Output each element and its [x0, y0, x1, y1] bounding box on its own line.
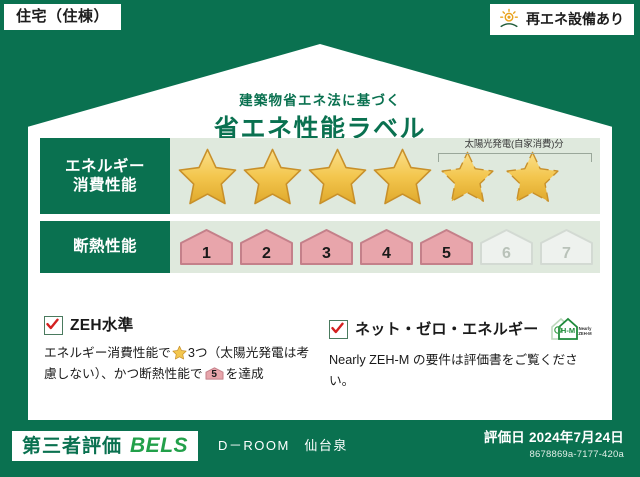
- insulation-performance-label: 断熱性能: [40, 221, 170, 273]
- zeh-standard-title: ZEH水準: [70, 318, 134, 334]
- bels-badge: 第三者評価 BELS: [12, 431, 198, 461]
- insulation-grade-badge: 7: [538, 227, 595, 267]
- label-panel: 建築物省エネ法に基づく 省エネ性能ラベル エネルギー 消費性能: [28, 44, 612, 420]
- performance-rows: エネルギー 消費性能: [40, 138, 600, 280]
- star-icon: [306, 146, 369, 206]
- bels-japanese-label: 第三者評価: [22, 437, 122, 456]
- insulation-label-line1: 断熱性能: [73, 237, 137, 256]
- insulation-grade-value: 7: [538, 246, 595, 262]
- star-icon: [241, 146, 304, 206]
- label-footer: 第三者評価 BELS D－ROOM 仙台泉 評価日 2024年7月24日 867…: [0, 421, 640, 477]
- insulation-grade-value: 1: [178, 246, 235, 262]
- inline-grade-value: 5: [205, 370, 224, 380]
- energy-label-line2: 消費性能: [73, 176, 137, 195]
- solar-bracket: [438, 153, 592, 162]
- sun-solar-icon: [498, 8, 520, 30]
- solar-generation-note: 太陽光発電(自家消費)分: [434, 140, 594, 150]
- insulation-grade-value: 6: [478, 246, 535, 262]
- star-icon: [176, 146, 239, 206]
- insulation-performance-value: 1 2 3 4: [170, 221, 600, 273]
- insulation-grade-value: 2: [238, 246, 295, 262]
- label-subtitle: 建築物省エネ法に基づく: [28, 94, 612, 108]
- renewable-badge-label: 再エネ設備あり: [526, 12, 624, 26]
- energy-performance-row: エネルギー 消費性能: [40, 138, 600, 214]
- zeh-standard-description: エネルギー消費性能で3つ（太陽光発電は考慮しない）、かつ断熱性能で5を達成: [44, 343, 315, 384]
- insulation-grade-value: 4: [358, 246, 415, 262]
- evaluation-date: 評価日 2024年7月24日: [484, 431, 624, 445]
- svg-text:H-M: H-M: [561, 326, 575, 335]
- label-title-block: 建築物省エネ法に基づく 省エネ性能ラベル: [28, 94, 612, 142]
- insulation-grade-value: 5: [418, 246, 475, 262]
- evaluation-id: 8678869a-7177-420a: [530, 450, 624, 460]
- nearly-zeh-m-logo-icon: H-M Nearly ZEH-M: [550, 316, 594, 342]
- certification-checks: ZEH水準 エネルギー消費性能で3つ（太陽光発電は考慮しない）、かつ断熱性能で5…: [44, 316, 600, 391]
- zeh-standard-block: ZEH水準 エネルギー消費性能で3つ（太陽光発電は考慮しない）、かつ断熱性能で5…: [44, 316, 315, 391]
- insulation-grade-badge: 1: [178, 227, 235, 267]
- net-zero-energy-title: ネット・ゼロ・エネルギー: [355, 322, 539, 337]
- housing-type-tag: 住宅（住棟）: [4, 4, 121, 30]
- insulation-grade-badge: 6: [478, 227, 535, 267]
- net-zero-energy-description: Nearly ZEH-M の要件は評価書をご覧ください。: [329, 350, 600, 391]
- energy-performance-value: 太陽光発電(自家消費)分: [170, 138, 600, 214]
- star-icon: [371, 146, 434, 206]
- net-zero-energy-header: ネット・ゼロ・エネルギー H-M Nearly ZEH-M: [329, 316, 600, 342]
- insulation-grade-scale: 1 2 3 4: [170, 227, 595, 267]
- insulation-grade-value: 3: [298, 246, 355, 262]
- insulation-grade-inline-badge: 5: [205, 366, 224, 381]
- energy-label-line1: エネルギー: [65, 157, 145, 176]
- energy-performance-label: エネルギー 消費性能: [40, 138, 170, 214]
- zeh-desc-part1: エネルギー消費性能で: [44, 346, 171, 360]
- zeh-standard-header: ZEH水準: [44, 316, 315, 335]
- net-zero-energy-block: ネット・ゼロ・エネルギー H-M Nearly ZEH-M Nearly ZEH…: [329, 316, 600, 391]
- star-icon: [172, 345, 187, 360]
- checkbox-checked-icon: [44, 316, 63, 335]
- energy-label-card: 住宅（住棟） 再エネ設備あり 建築物省エネ法に基づく 省エネ性能ラベル: [0, 0, 640, 477]
- insulation-performance-row: 断熱性能 1 2 3: [40, 221, 600, 273]
- insulation-grade-badge: 5: [418, 227, 475, 267]
- insulation-grade-badge: 3: [298, 227, 355, 267]
- bels-logo-text: BELS: [130, 435, 188, 456]
- insulation-grade-badge: 4: [358, 227, 415, 267]
- zeh-desc-part3: を達成: [226, 367, 264, 381]
- checkbox-checked-icon: [329, 320, 348, 339]
- project-name: D－ROOM 仙台泉: [218, 439, 348, 452]
- renewable-equipment-badge: 再エネ設備あり: [490, 4, 634, 35]
- insulation-grade-badge: 2: [238, 227, 295, 267]
- svg-text:ZEH-M: ZEH-M: [578, 331, 592, 336]
